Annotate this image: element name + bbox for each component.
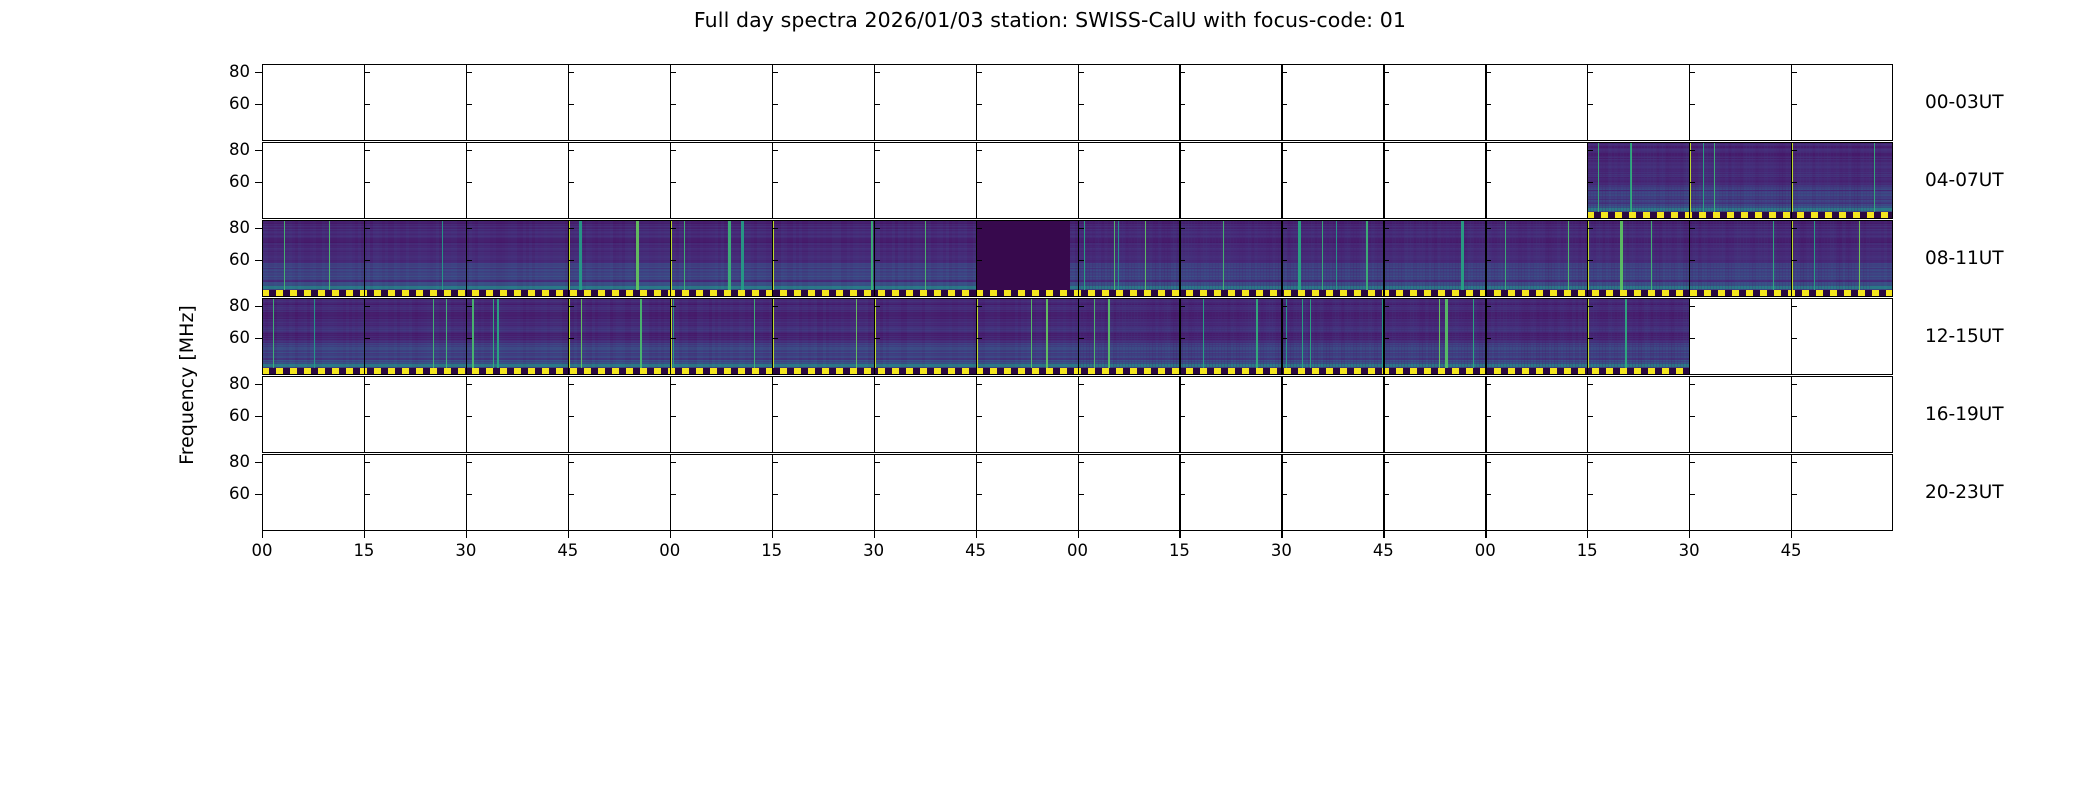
spectrogram-row-04-07ut[interactable] xyxy=(262,142,1893,219)
y-tick-mark-inner xyxy=(568,260,574,261)
y-tick-mark-inner xyxy=(1078,306,1084,307)
y-tick-mark-inner xyxy=(364,150,370,151)
y-tick-mark-inner xyxy=(1383,104,1389,105)
y-tick-mark-inner xyxy=(1485,104,1491,105)
y-tick-mark-inner xyxy=(874,462,880,463)
y-tick-mark-inner xyxy=(670,494,676,495)
y-tick-mark-inner xyxy=(976,72,982,73)
vertical-rfi-line xyxy=(329,220,330,297)
y-tick-mark-inner xyxy=(976,416,982,417)
subpanel-separator xyxy=(1078,454,1079,531)
y-tick-mark-inner xyxy=(772,306,778,307)
x-tick-mark xyxy=(670,531,671,538)
y-tick-mark xyxy=(255,182,262,183)
y-tick-mark-inner xyxy=(1281,72,1287,73)
subpanel-separator xyxy=(670,376,671,453)
x-tick-mark xyxy=(874,531,875,538)
y-tick-mark-inner xyxy=(670,150,676,151)
y-tick-mark-inner xyxy=(874,494,880,495)
y-tick-mark-inner xyxy=(1078,150,1084,151)
row-label-08-11ut: 08-11UT xyxy=(1925,250,2004,269)
y-tick-mark-inner xyxy=(670,416,676,417)
y-tick-label: 80 xyxy=(206,142,250,159)
row-label-12-15ut: 12-15UT xyxy=(1925,328,2004,347)
row-label-20-23ut: 20-23UT xyxy=(1925,484,2004,503)
vertical-rfi-line xyxy=(1336,220,1337,297)
y-tick-mark-inner xyxy=(976,260,982,261)
x-tick-label: 15 xyxy=(1153,543,1205,560)
y-tick-mark-inner xyxy=(670,338,676,339)
vertical-rfi-line xyxy=(1031,298,1032,375)
vertical-rfi-line xyxy=(284,220,285,297)
x-tick-mark xyxy=(466,531,467,538)
y-tick-mark-inner xyxy=(1383,150,1389,151)
y-tick-mark-inner xyxy=(1689,384,1695,385)
y-tick-mark-inner xyxy=(364,462,370,463)
y-tick-mark-inner xyxy=(1078,384,1084,385)
y-tick-mark-inner xyxy=(1689,182,1695,183)
y-tick-mark-inner xyxy=(1281,228,1287,229)
subpanel-separator xyxy=(1383,298,1384,375)
row-label-00-03ut: 00-03UT xyxy=(1925,94,2004,113)
y-tick-mark-inner xyxy=(1179,306,1185,307)
x-tick-mark xyxy=(568,531,569,538)
y-tick-mark-inner xyxy=(364,384,370,385)
y-tick-mark-inner xyxy=(1179,104,1185,105)
vertical-rfi-line xyxy=(1568,220,1569,297)
subpanel-separator xyxy=(670,454,671,531)
y-tick-mark-inner xyxy=(364,182,370,183)
subpanel-separator xyxy=(466,142,467,219)
y-tick-mark-inner xyxy=(772,494,778,495)
subpanel-separator xyxy=(1791,64,1792,141)
y-tick-mark-inner xyxy=(1179,228,1185,229)
spectrogram-row-20-23ut[interactable] xyxy=(262,454,1893,531)
vertical-rfi-line xyxy=(1322,220,1323,297)
y-tick-mark xyxy=(255,228,262,229)
vertical-rfi-line xyxy=(433,298,434,375)
subpanel-separator xyxy=(466,454,467,531)
y-tick-mark-inner xyxy=(670,104,676,105)
burst-marker-band xyxy=(1587,212,1893,219)
y-tick-mark-inner xyxy=(1587,228,1593,229)
y-tick-mark-inner xyxy=(1078,228,1084,229)
subpanel-separator xyxy=(1791,454,1792,531)
y-tick-mark-inner xyxy=(1485,416,1491,417)
vertical-rfi-line xyxy=(273,298,274,375)
y-tick-mark-inner xyxy=(1281,494,1287,495)
y-axis-label: Frequency [MHz] xyxy=(176,270,202,500)
spectrogram-row-00-03ut[interactable] xyxy=(262,64,1893,141)
y-tick-mark-inner xyxy=(1078,338,1084,339)
y-tick-mark-inner xyxy=(1791,384,1797,385)
y-tick-mark-inner xyxy=(466,462,472,463)
subpanel-separator xyxy=(670,64,671,141)
y-tick-mark-inner xyxy=(670,260,676,261)
y-tick-mark-inner xyxy=(874,150,880,151)
subpanel-separator xyxy=(772,376,773,453)
x-tick-mark xyxy=(364,531,365,538)
x-tick-mark xyxy=(1485,531,1486,538)
x-tick-mark xyxy=(1689,531,1690,538)
vertical-rfi-line xyxy=(1814,220,1815,297)
x-tick-label: 15 xyxy=(1561,543,1613,560)
y-tick-mark-inner xyxy=(364,260,370,261)
y-tick-mark-inner xyxy=(568,338,574,339)
y-tick-mark-inner xyxy=(466,72,472,73)
y-tick-mark-inner xyxy=(1485,306,1491,307)
y-tick-mark-inner xyxy=(1791,306,1797,307)
vertical-rfi-line xyxy=(1118,220,1119,297)
subpanel-separator xyxy=(1281,142,1282,219)
y-tick-mark-inner xyxy=(1689,150,1695,151)
y-tick-mark-inner xyxy=(1485,384,1491,385)
vertical-rfi-line xyxy=(1256,298,1259,375)
y-tick-mark-inner xyxy=(1281,384,1287,385)
y-tick-mark-inner xyxy=(976,338,982,339)
y-tick-mark-inner xyxy=(466,338,472,339)
vertical-rfi-line xyxy=(493,298,494,375)
y-tick-mark-inner xyxy=(976,306,982,307)
y-tick-mark-inner xyxy=(1281,260,1287,261)
y-tick-mark-inner xyxy=(1587,338,1593,339)
subpanel-separator xyxy=(1587,454,1588,531)
y-tick-mark-inner xyxy=(1689,494,1695,495)
y-tick-mark-inner xyxy=(1485,72,1491,73)
vertical-rfi-line xyxy=(1094,298,1095,375)
y-tick-mark-inner xyxy=(1383,462,1389,463)
subpanel-separator xyxy=(772,142,773,219)
x-tick-mark xyxy=(772,531,773,538)
vertical-rfi-line xyxy=(1439,298,1440,375)
y-tick-mark-inner xyxy=(874,306,880,307)
y-tick-mark-inner xyxy=(1485,462,1491,463)
vertical-rfi-line xyxy=(497,298,500,375)
y-tick-mark-inner xyxy=(466,384,472,385)
vertical-rfi-line xyxy=(1366,220,1369,297)
subpanel-separator xyxy=(466,220,467,297)
y-tick-mark-inner xyxy=(1689,260,1695,261)
row-plot-area xyxy=(262,142,1893,219)
figure-canvas: Full day spectra 2026/01/03 station: SWI… xyxy=(0,0,2100,800)
y-tick-mark-inner xyxy=(772,338,778,339)
row-plot-area xyxy=(262,64,1893,141)
vertical-rfi-line xyxy=(1223,220,1224,297)
y-tick-mark-inner xyxy=(1383,416,1389,417)
subpanel-separator xyxy=(1587,64,1588,141)
vertical-rfi-line xyxy=(1598,142,1599,219)
y-tick-mark-inner xyxy=(874,416,880,417)
subpanel-separator xyxy=(1078,298,1079,375)
vertical-rfi-line xyxy=(1630,142,1631,219)
vertical-rfi-line xyxy=(1625,298,1628,375)
x-tick-label: 45 xyxy=(1765,543,1817,560)
y-tick-mark-inner xyxy=(1791,338,1797,339)
subpanel-separator xyxy=(1078,64,1079,141)
subpanel-separator xyxy=(364,376,365,453)
y-tick-mark-inner xyxy=(1281,150,1287,151)
row-label-04-07ut: 04-07UT xyxy=(1925,172,2004,191)
y-tick-mark xyxy=(255,494,262,495)
y-tick-mark-inner xyxy=(874,182,880,183)
y-tick-mark-inner xyxy=(1179,182,1185,183)
y-tick-mark-inner xyxy=(1179,260,1185,261)
x-tick-label: 15 xyxy=(746,543,798,560)
y-tick-mark-inner xyxy=(1587,150,1593,151)
y-tick-mark-inner xyxy=(670,384,676,385)
subpanel-separator xyxy=(1281,454,1282,531)
x-tick-label: 45 xyxy=(1357,543,1409,560)
page-title: Full day spectra 2026/01/03 station: SWI… xyxy=(0,8,2100,32)
vertical-rfi-line xyxy=(1461,220,1464,297)
y-tick-mark-inner xyxy=(772,260,778,261)
y-tick-mark-inner xyxy=(1587,416,1593,417)
y-tick-label: 60 xyxy=(206,174,250,191)
subpanel-separator xyxy=(1689,298,1690,375)
x-tick-mark xyxy=(1791,531,1792,538)
spectrogram-row-12-15ut[interactable] xyxy=(262,298,1893,375)
y-tick-mark-inner xyxy=(1689,104,1695,105)
subpanel-separator xyxy=(1689,376,1690,453)
y-tick-mark-inner xyxy=(466,228,472,229)
y-tick-mark-inner xyxy=(1383,72,1389,73)
y-tick-mark-inner xyxy=(1281,462,1287,463)
y-tick-mark xyxy=(255,462,262,463)
subpanel-separator xyxy=(976,64,977,141)
subpanel-separator xyxy=(670,298,671,375)
subpanel-separator xyxy=(1179,220,1180,297)
x-tick-mark xyxy=(1587,531,1588,538)
y-tick-label: 60 xyxy=(206,330,250,347)
subpanel-separator xyxy=(1485,142,1486,219)
y-tick-mark-inner xyxy=(874,260,880,261)
subpanel-separator xyxy=(1791,142,1792,219)
vertical-rfi-line xyxy=(640,298,643,375)
y-tick-mark-inner xyxy=(1078,494,1084,495)
vertical-rfi-line xyxy=(1145,220,1146,297)
y-tick-mark-inner xyxy=(466,306,472,307)
x-tick-mark xyxy=(1281,531,1282,538)
row-plot-area xyxy=(262,298,1893,375)
vertical-rfi-line xyxy=(1445,298,1448,375)
vertical-rfi-line xyxy=(581,298,582,375)
y-tick-label: 80 xyxy=(206,220,250,237)
subpanel-separator xyxy=(466,298,467,375)
spectrogram-row-16-19ut[interactable] xyxy=(262,376,1893,453)
subpanel-separator xyxy=(1689,142,1690,219)
y-tick-mark-inner xyxy=(364,306,370,307)
row-plot-area xyxy=(262,220,1893,297)
y-tick-mark-inner xyxy=(1791,104,1797,105)
y-tick-mark-inner xyxy=(976,384,982,385)
subpanel-separator xyxy=(1078,376,1079,453)
vertical-rfi-line xyxy=(1773,220,1774,297)
y-tick-mark-inner xyxy=(1078,104,1084,105)
y-tick-mark-inner xyxy=(1383,384,1389,385)
y-tick-mark-inner xyxy=(364,228,370,229)
y-tick-mark-inner xyxy=(1179,338,1185,339)
subpanel-separator xyxy=(364,454,365,531)
y-tick-mark-inner xyxy=(568,104,574,105)
y-tick-mark-inner xyxy=(1791,462,1797,463)
y-tick-mark-inner xyxy=(364,104,370,105)
subpanel-separator xyxy=(1485,376,1486,453)
subpanel-separator xyxy=(1791,220,1792,297)
subpanel-separator xyxy=(568,64,569,141)
y-tick-mark-inner xyxy=(1689,72,1695,73)
subpanel-separator xyxy=(1281,298,1282,375)
subpanel-separator xyxy=(1587,142,1588,219)
y-tick-mark-inner xyxy=(1078,72,1084,73)
x-tick-label: 15 xyxy=(338,543,390,560)
y-tick-mark-inner xyxy=(976,104,982,105)
y-tick-mark-inner xyxy=(568,306,574,307)
subpanel-separator xyxy=(1281,376,1282,453)
subpanel-separator xyxy=(1383,220,1384,297)
y-tick-mark-inner xyxy=(466,494,472,495)
y-tick-mark xyxy=(255,306,262,307)
x-tick-mark xyxy=(1383,531,1384,538)
vertical-rfi-line xyxy=(1714,142,1715,219)
subpanel-separator xyxy=(364,142,365,219)
y-tick-mark-inner xyxy=(1383,494,1389,495)
subpanel-separator xyxy=(874,220,875,297)
y-tick-mark-inner xyxy=(568,228,574,229)
subpanel-separator xyxy=(1383,376,1384,453)
y-tick-mark-inner xyxy=(364,72,370,73)
row-plot-area xyxy=(262,376,1893,453)
vertical-rfi-line xyxy=(1298,220,1301,297)
y-tick-mark-inner xyxy=(1281,182,1287,183)
subpanel-separator xyxy=(1689,454,1690,531)
y-tick-mark-inner xyxy=(1485,494,1491,495)
subpanel-separator xyxy=(1078,142,1079,219)
y-tick-mark-inner xyxy=(772,72,778,73)
subpanel-separator xyxy=(1587,220,1588,297)
subpanel-separator xyxy=(874,64,875,141)
subpanel-separator xyxy=(1383,64,1384,141)
y-tick-mark-inner xyxy=(1179,150,1185,151)
y-tick-mark-inner xyxy=(1383,260,1389,261)
vertical-rfi-line xyxy=(579,220,582,297)
subpanel-separator xyxy=(568,298,569,375)
subpanel-separator xyxy=(1179,64,1180,141)
vertical-rfi-line xyxy=(442,220,443,297)
y-tick-mark-inner xyxy=(1791,260,1797,261)
x-tick-label: 45 xyxy=(950,543,1002,560)
y-tick-mark-inner xyxy=(1791,182,1797,183)
y-tick-mark-inner xyxy=(1791,416,1797,417)
y-tick-label: 60 xyxy=(206,486,250,503)
vertical-rfi-line xyxy=(673,298,674,375)
y-tick-mark-inner xyxy=(364,494,370,495)
subpanel-separator xyxy=(1383,142,1384,219)
y-tick-mark-inner xyxy=(466,182,472,183)
x-tick-label: 00 xyxy=(644,543,696,560)
y-tick-mark-inner xyxy=(1689,416,1695,417)
y-tick-mark-inner xyxy=(1383,182,1389,183)
y-tick-mark-inner xyxy=(772,228,778,229)
subpanel-separator xyxy=(466,376,467,453)
y-tick-mark-inner xyxy=(874,228,880,229)
y-tick-label: 80 xyxy=(206,64,250,81)
subpanel-separator xyxy=(670,220,671,297)
y-tick-mark-inner xyxy=(772,104,778,105)
y-tick-mark-inner xyxy=(874,384,880,385)
vertical-rfi-line xyxy=(1302,298,1303,375)
subpanel-separator xyxy=(976,298,977,375)
vertical-rfi-line xyxy=(1505,220,1506,297)
y-tick-mark-inner xyxy=(568,462,574,463)
y-tick-mark-inner xyxy=(568,182,574,183)
y-tick-mark-inner xyxy=(670,182,676,183)
y-tick-mark-inner xyxy=(772,150,778,151)
y-tick-mark-inner xyxy=(1078,182,1084,183)
y-tick-mark-inner xyxy=(1078,260,1084,261)
subpanel-separator xyxy=(1179,298,1180,375)
x-tick-label: 30 xyxy=(440,543,492,560)
y-tick-mark-inner xyxy=(1587,462,1593,463)
subpanel-separator xyxy=(1587,376,1588,453)
spectrogram-image xyxy=(1587,142,1893,219)
vertical-rfi-line xyxy=(1114,220,1115,297)
y-tick-mark-inner xyxy=(1791,494,1797,495)
subpanel-separator xyxy=(772,220,773,297)
y-tick-mark-inner xyxy=(1587,384,1593,385)
subpanel-separator xyxy=(772,64,773,141)
y-tick-mark-inner xyxy=(1587,104,1593,105)
y-tick-mark-inner xyxy=(1179,494,1185,495)
vertical-rfi-line xyxy=(1859,220,1860,297)
y-tick-mark xyxy=(255,338,262,339)
x-tick-label: 30 xyxy=(1663,543,1715,560)
y-tick-label: 60 xyxy=(206,408,250,425)
subpanel-separator xyxy=(1179,142,1180,219)
subpanel-separator xyxy=(1485,298,1486,375)
subpanel-separator xyxy=(568,454,569,531)
x-tick-label: 45 xyxy=(542,543,594,560)
y-tick-mark-inner xyxy=(466,416,472,417)
subpanel-separator xyxy=(364,298,365,375)
x-tick-label: 00 xyxy=(1459,543,1511,560)
y-tick-mark-inner xyxy=(1791,72,1797,73)
subpanel-separator xyxy=(1485,220,1486,297)
x-tick-mark xyxy=(1179,531,1180,538)
y-tick-mark xyxy=(255,260,262,261)
y-tick-mark-inner xyxy=(466,150,472,151)
y-tick-mark-inner xyxy=(772,462,778,463)
subpanel-separator xyxy=(568,142,569,219)
y-tick-mark-inner xyxy=(976,150,982,151)
spectrogram-row-08-11ut[interactable] xyxy=(262,220,1893,297)
y-tick-mark-inner xyxy=(772,182,778,183)
y-tick-mark-inner xyxy=(1383,338,1389,339)
y-tick-label: 80 xyxy=(206,298,250,315)
row-label-16-19ut: 16-19UT xyxy=(1925,406,2004,425)
y-tick-mark-inner xyxy=(1078,462,1084,463)
vertical-rfi-line xyxy=(314,298,315,375)
y-tick-mark xyxy=(255,384,262,385)
vertical-rfi-line xyxy=(1473,298,1474,375)
subpanel-separator xyxy=(1179,376,1180,453)
vertical-rfi-line xyxy=(472,298,475,375)
y-tick-mark-inner xyxy=(1587,494,1593,495)
y-tick-mark-inner xyxy=(1791,150,1797,151)
y-tick-mark-inner xyxy=(1587,306,1593,307)
y-tick-mark-inner xyxy=(1587,72,1593,73)
y-tick-label: 60 xyxy=(206,96,250,113)
time-column xyxy=(1890,220,1893,297)
